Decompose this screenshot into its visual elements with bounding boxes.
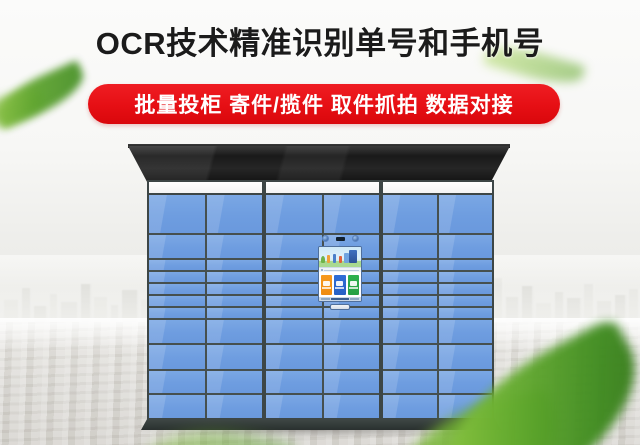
locker-door[interactable] [266,345,322,370]
locker-door[interactable] [207,345,263,370]
screen-button-pickup[interactable] [334,275,345,295]
parcel-collection-tray[interactable] [330,304,350,310]
locker-column [149,195,205,418]
locker-door[interactable] [383,345,437,370]
locker-door[interactable] [266,320,322,345]
locker-door[interactable] [383,296,437,308]
locker-door[interactable] [266,296,322,308]
status-segment [321,298,330,300]
illustration-person-1 [327,255,330,263]
door-grid [383,195,492,418]
locker-column [266,195,322,418]
card-slot-icon[interactable] [336,237,345,241]
locker-door[interactable] [324,371,380,395]
locker-door[interactable] [439,371,493,395]
locker-door[interactable] [149,235,205,260]
locker-door[interactable] [439,260,493,272]
locker-door[interactable] [207,235,263,260]
locker-door[interactable] [207,308,263,320]
page-title: OCR技术精准识别单号和手机号 [0,24,640,64]
locker-column [383,195,437,418]
locker-door[interactable] [383,235,437,260]
locker-door[interactable] [324,395,380,418]
locker-column [205,195,263,418]
screen-hero-illustration [319,247,361,267]
section-header-strip [266,182,379,195]
button-label-placeholder [335,287,344,289]
notice-dot-icon [321,269,323,271]
illustration-person-3 [339,256,342,263]
locker-door[interactable] [383,308,437,320]
locker-door[interactable] [324,195,380,235]
locker-door[interactable] [149,195,205,235]
feature-banner: 批量投柜 寄件/揽件 取件抓拍 数据对接 [88,84,560,124]
locker-canopy [128,146,510,182]
status-segment-active [331,298,349,300]
locker-door[interactable] [383,272,437,284]
locker-door[interactable] [149,308,205,320]
locker-door[interactable] [207,371,263,395]
locker-door[interactable] [207,320,263,345]
camera-lens-right-icon [352,235,359,242]
locker-door[interactable] [149,284,205,296]
smart-parcel-locker [0,0,640,445]
locker-section-right [381,180,494,420]
locker-door[interactable] [439,320,493,345]
locker-door[interactable] [439,272,493,284]
locker-door[interactable] [207,272,263,284]
status-segment [350,298,359,300]
section-header-strip [383,182,492,195]
locker-door[interactable] [266,260,322,272]
locker-door[interactable] [383,371,437,395]
locker-door[interactable] [207,395,263,418]
locker-door[interactable] [439,308,493,320]
locker-door[interactable] [439,345,493,370]
locker-door[interactable] [383,195,437,235]
locker-door[interactable] [207,296,263,308]
locker-door[interactable] [266,395,322,418]
parcel-icon [323,281,330,286]
locker-door[interactable] [383,320,437,345]
locker-door[interactable] [149,395,205,418]
locker-door[interactable] [149,272,205,284]
locker-door[interactable] [149,296,205,308]
locker-door[interactable] [383,260,437,272]
locker-door[interactable] [439,296,493,308]
section-header-strip [149,182,262,195]
locker-door[interactable] [266,284,322,296]
locker-door[interactable] [149,371,205,395]
locker-door[interactable] [207,260,263,272]
screen-action-buttons [319,272,361,297]
locker-door[interactable] [149,320,205,345]
door-grid [149,195,262,418]
screen-button-send[interactable] [348,275,359,295]
locker-door[interactable] [324,320,380,345]
box-icon [336,281,343,286]
screen-button-deposit[interactable] [321,275,332,295]
kiosk-sensor-bar [320,234,360,243]
camera-lens-left-icon [322,235,329,242]
locker-door[interactable] [324,345,380,370]
locker-door[interactable] [266,195,322,235]
locker-door[interactable] [439,395,493,418]
illustration-person-2 [333,254,336,263]
kiosk-touchscreen[interactable] [318,246,362,302]
illustration-locker-large [349,250,357,263]
locker-door[interactable] [439,235,493,260]
feature-banner-label: 批量投柜 寄件/揽件 取件抓拍 数据对接 [134,89,513,119]
promo-scene: OCR技术精准识别单号和手机号 批量投柜 寄件/揽件 取件抓拍 数据对接 [0,0,640,445]
locker-door[interactable] [266,235,322,260]
locker-door[interactable] [439,284,493,296]
locker-door[interactable] [207,195,263,235]
notice-text-placeholder [324,270,359,271]
locker-door[interactable] [149,345,205,370]
locker-section-left [147,180,264,420]
locker-door[interactable] [383,284,437,296]
envelope-icon [350,281,357,286]
button-label-placeholder [322,287,331,289]
button-label-placeholder [349,287,358,289]
locker-door[interactable] [266,371,322,395]
locker-column [437,195,493,418]
locker-door[interactable] [266,308,322,320]
locker-door[interactable] [266,272,322,284]
locker-door[interactable] [439,195,493,235]
locker-door[interactable] [383,395,437,418]
screen-status-bar [319,297,361,301]
kiosk-terminal[interactable] [318,234,362,310]
locker-door[interactable] [149,260,205,272]
locker-door[interactable] [207,284,263,296]
illustration-tree [321,256,325,263]
